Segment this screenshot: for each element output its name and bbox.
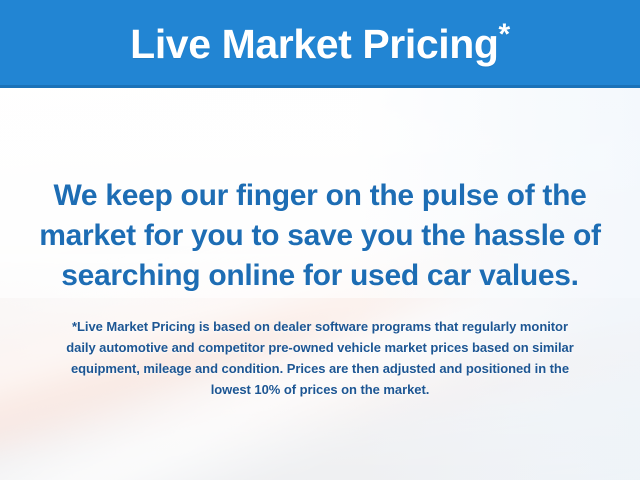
disclaimer-line-2: daily automotive and competitor pre-owne… — [26, 337, 614, 358]
header-banner: Live Market Pricing* — [0, 0, 640, 88]
footnote-marker: * — [499, 18, 510, 51]
disclaimer-line-3: equipment, mileage and condition. Prices… — [26, 358, 614, 379]
content-area: We keep our finger on the pulse of the m… — [0, 88, 640, 480]
headline-line-3: searching online for used car values. — [22, 256, 618, 296]
banner-title: Live Market Pricing* — [130, 20, 510, 68]
headline-line-2: market for you to save you the hassle of — [22, 216, 618, 256]
disclaimer-line-4: lowest 10% of prices on the market. — [26, 379, 614, 400]
banner-title-text: Live Market Pricing — [130, 21, 498, 67]
headline: We keep our finger on the pulse of the m… — [22, 176, 618, 296]
live-market-pricing-promo: Live Market Pricing* We keep our finger … — [0, 0, 640, 480]
headline-line-1: We keep our finger on the pulse of the — [22, 176, 618, 216]
disclaimer-line-1: *Live Market Pricing is based on dealer … — [26, 316, 614, 337]
disclaimer-text: *Live Market Pricing is based on dealer … — [26, 316, 614, 400]
